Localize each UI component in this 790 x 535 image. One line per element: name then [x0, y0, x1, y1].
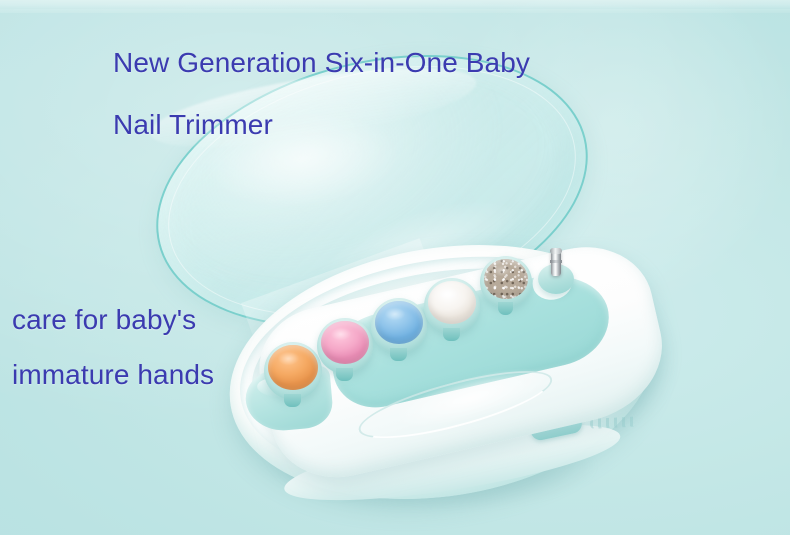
attachment-metal-band [550, 260, 562, 263]
attachment-metal-cap [550, 248, 562, 254]
attachment-foot [443, 328, 460, 341]
subheadline: care for baby's immature hands [12, 292, 342, 402]
attachment-foot [390, 348, 407, 361]
headline-line-1: New Generation Six-in-One Baby [113, 47, 530, 78]
attachment-pad-blue [375, 301, 423, 345]
attachment-pad-white [428, 281, 476, 325]
attachment-blue-buffing-disc [371, 298, 427, 354]
attachment-grit-sanding-disc [480, 256, 532, 308]
promo-image: New Generation Six-in-One Baby Nail Trim… [0, 0, 790, 535]
attachment-white-polishing-disc [424, 278, 480, 334]
attachment-pad-grit [484, 259, 529, 300]
headline: New Generation Six-in-One Baby Nail Trim… [113, 32, 713, 156]
subheadline-line-1: care for baby's [12, 304, 196, 335]
attachment-metal-grinding-tip [536, 248, 576, 292]
headline-line-2: Nail Trimmer [113, 109, 273, 140]
subheadline-line-2: immature hands [12, 359, 214, 390]
